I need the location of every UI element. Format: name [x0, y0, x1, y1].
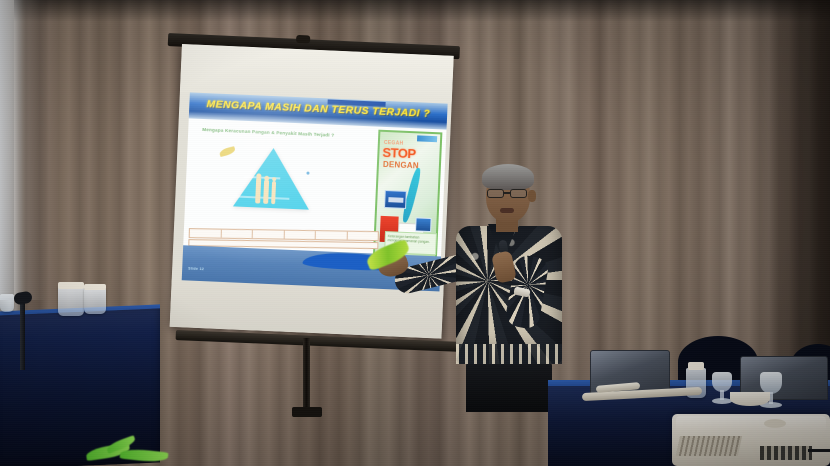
water-goblet-bowl — [712, 372, 732, 392]
projector-ports — [760, 446, 812, 460]
projector-top-panel — [676, 416, 826, 432]
green-foliage — [86, 438, 190, 464]
glasses-icon — [486, 189, 530, 198]
microphone-stand — [20, 300, 25, 370]
water-glass — [84, 288, 106, 314]
glasses-right-lens — [510, 189, 527, 198]
screen-roller-knob — [296, 35, 310, 44]
screen-tripod-foot — [292, 407, 322, 417]
pyramid-figure-2 — [263, 180, 269, 204]
glasses-bridge — [504, 192, 510, 194]
poster-blue-badge — [415, 217, 432, 232]
poster-tag-badge — [417, 135, 437, 142]
presentation-photo-scene: MENGAPA MASIH DAN TERUS TERJADI ? Mengap… — [0, 0, 830, 466]
slide-subtitle: Mengapa Keracunan Pangan & Penyakit Masi… — [202, 127, 334, 138]
presenter — [440, 168, 570, 408]
projector-vent — [676, 436, 742, 456]
projector-cable — [808, 444, 830, 452]
presenter-hair — [482, 164, 534, 190]
serving-bowl — [730, 392, 770, 406]
water-glass — [0, 294, 14, 312]
glasses-left-lens — [487, 189, 504, 198]
water-bottle-cap — [688, 362, 704, 370]
strip-cell — [221, 230, 253, 238]
slide-bullet-dot — [306, 172, 309, 175]
table-projector — [672, 414, 830, 466]
strip-cell — [284, 231, 316, 239]
screen-tripod-pole — [303, 338, 310, 413]
water-glass-lid — [58, 282, 84, 289]
leaf — [120, 448, 169, 464]
screen-surface: MENGAPA MASIH DAN TERUS TERJADI ? Mengap… — [170, 44, 454, 339]
poster-line-2: STOP — [382, 145, 416, 161]
presenter-legs — [466, 360, 552, 412]
strip-cell — [347, 232, 378, 240]
presenter-shirt-hem — [456, 344, 562, 364]
strip-cell — [190, 229, 222, 237]
poster-line-3: DENGAN — [383, 160, 419, 171]
ceiling-shadow — [0, 0, 830, 22]
strip-cell — [253, 230, 285, 238]
poster-blue-box — [384, 190, 407, 209]
projector-lens — [764, 419, 786, 428]
projection-screen-assembly: MENGAPA MASIH DAN TERUS TERJADI ? Mengap… — [168, 33, 460, 393]
strip-cell — [316, 231, 348, 239]
water-goblet-foot — [712, 398, 732, 404]
left-window-light — [0, 0, 46, 300]
water-glass — [58, 286, 84, 316]
slide-footer-text: Slide 12 — [188, 266, 204, 271]
water-goblet-bowl — [760, 372, 782, 394]
water-glass-lid — [84, 284, 106, 290]
presenter-mouth — [500, 208, 514, 213]
banana-icon — [219, 146, 236, 157]
